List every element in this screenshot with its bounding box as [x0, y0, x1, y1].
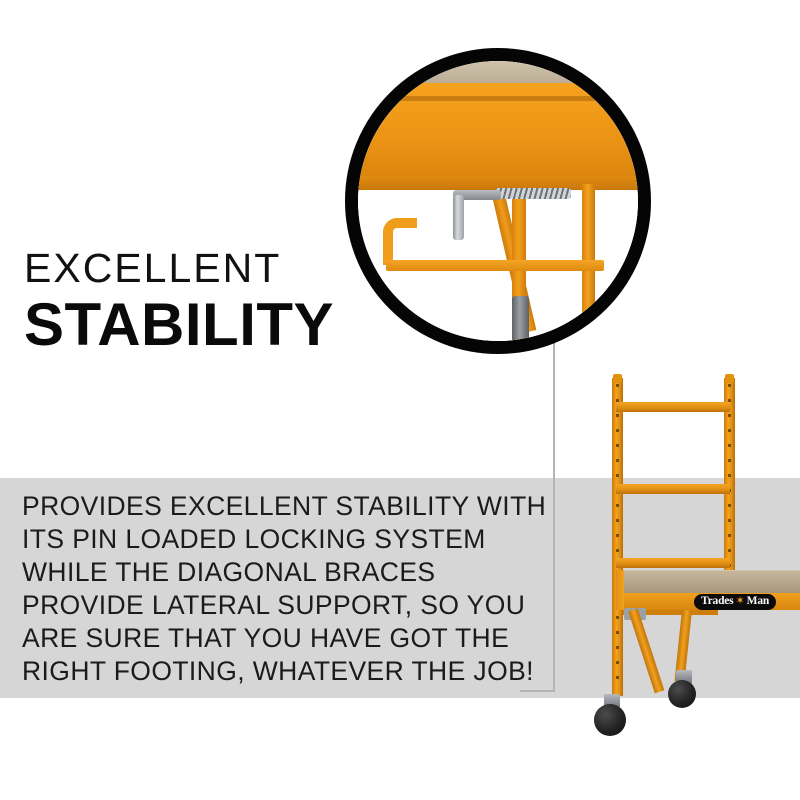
guard-rail-hook: [383, 218, 417, 266]
scaffold-rung-lower: [616, 558, 730, 568]
post-cap-right: [725, 374, 734, 383]
scaffold-deck-endcap: [616, 570, 624, 610]
platform-beam: [358, 83, 638, 184]
body-line: WHILE THE DIAGONAL BRACES: [22, 556, 552, 589]
scaffold-rung-middle: [616, 484, 730, 494]
body-line: RIGHT FOOTING, WHATEVER THE JOB!: [22, 655, 552, 688]
caster-wheel-right: [668, 680, 696, 708]
brand-badge-text-left: Trades: [701, 596, 733, 608]
detail-photo-circle: [345, 48, 651, 354]
body-line: ARE SURE THAT YOU HAVE GOT THE: [22, 622, 552, 655]
body-line: ITS PIN LOADED LOCKING SYSTEM: [22, 523, 552, 556]
caster-stem: [512, 296, 529, 341]
headline-line-2: STABILITY: [24, 293, 384, 356]
guard-rail: [386, 260, 604, 271]
scaffold-rung-top: [616, 402, 730, 412]
locking-spring: [495, 188, 571, 199]
brand-badge: Trades ✶ Man: [694, 594, 776, 610]
infographic-canvas: EXCELLENT STABILITY PROVIDES EXCELLENT S…: [0, 0, 800, 800]
leg-peg-holes: [616, 616, 619, 690]
brand-badge-text-right: Man: [747, 596, 769, 608]
product-scaffold: Trades ✶ Man: [566, 374, 800, 746]
beam-groove: [358, 96, 638, 100]
leader-line-vertical: [553, 300, 555, 692]
caster-wheel-left: [594, 704, 626, 736]
detail-photo-image: [358, 61, 638, 341]
leader-line-horizontal: [520, 690, 554, 692]
headline-group: EXCELLENT STABILITY: [24, 248, 384, 356]
scaffold-leg-left: [612, 610, 623, 696]
scaffold-diagonal-leg-a: [628, 608, 664, 693]
bolt-hole-icon: [617, 106, 633, 119]
body-copy-group: PROVIDES EXCELLENT STABILITY WITH ITS PI…: [22, 490, 552, 688]
body-line: PROVIDES EXCELLENT STABILITY WITH: [22, 490, 552, 523]
post-cap-left: [613, 374, 622, 383]
body-line: PROVIDE LATERAL SUPPORT, SO YOU: [22, 589, 552, 622]
locking-pin-handle: [453, 195, 464, 240]
brand-star-icon: ✶: [735, 596, 744, 607]
headline-line-1: EXCELLENT: [24, 248, 384, 289]
